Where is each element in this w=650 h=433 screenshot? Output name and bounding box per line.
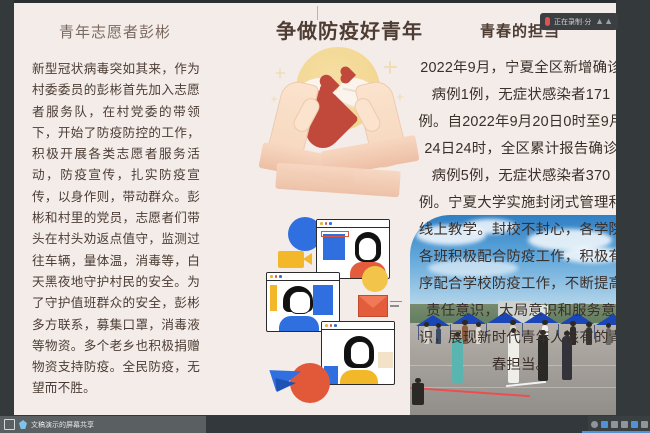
window-titlebar [322, 322, 394, 330]
ribbon-segment [275, 163, 401, 198]
ime-icon[interactable] [631, 421, 638, 428]
screen-share-label: 文稿演示的屏幕共享 [31, 420, 94, 430]
left-body-text: 新型冠状病毒突如其来，作为村委委员的彭彬首先加入志愿者服务队，在村党委的带领下，… [32, 59, 200, 415]
desktop-screen: 青年志愿者彭彬 争做防疫好青年 青春的担当 新型冠状病毒突如其来，作为村委委员的… [0, 0, 650, 433]
window-block [313, 285, 333, 315]
envelope-icon [358, 295, 388, 317]
download-icon[interactable] [611, 421, 618, 428]
window-block [270, 285, 277, 311]
desktop-left-margin [0, 0, 14, 433]
face-shape [350, 341, 370, 365]
battery-icon[interactable] [621, 421, 628, 428]
torso-shape [279, 316, 319, 332]
network-icon[interactable] [601, 421, 608, 428]
recording-badge[interactable]: 正在录制·分钟 ▲▲ [540, 13, 618, 30]
recording-badge-label: 正在录制·分钟 [554, 17, 591, 27]
screen-share-toast[interactable]: 文稿演示的屏幕共享 [0, 416, 206, 433]
window-accent [321, 231, 349, 237]
paper-plane-shadow-icon [275, 376, 296, 392]
left-section-header: 青年志愿者彭彬 [59, 21, 171, 42]
video-call-illustration [266, 217, 410, 415]
share-icon [19, 420, 27, 429]
window-block [323, 234, 345, 260]
right-body-text: 2022年9月，宁夏全区新增确诊病例1例，无症状感染者171例。自2022年9月… [418, 55, 616, 415]
video-camera-icon [278, 251, 304, 268]
face-shape [358, 237, 377, 261]
sound-icon[interactable] [591, 421, 598, 428]
torso-shape [340, 370, 378, 385]
desktop-right-margin [616, 0, 650, 433]
tray-icon[interactable] [641, 421, 648, 428]
monitor-icon [4, 419, 15, 430]
presentation-slide[interactable]: 青年志愿者彭彬 争做防疫好青年 青春的担当 新型冠状病毒突如其来，作为村委委员的… [14, 3, 616, 415]
window-block [378, 352, 393, 368]
decor-circle-yellow [362, 266, 388, 292]
hands-heart-illustration [266, 39, 406, 219]
audio-wave-icon: ▲▲ [595, 17, 613, 26]
face-shape [289, 291, 311, 314]
video-window-person-3 [321, 321, 395, 385]
window-titlebar [317, 220, 389, 228]
microphone-icon [545, 17, 550, 26]
decor-lines [390, 301, 402, 310]
window-titlebar [267, 273, 339, 281]
